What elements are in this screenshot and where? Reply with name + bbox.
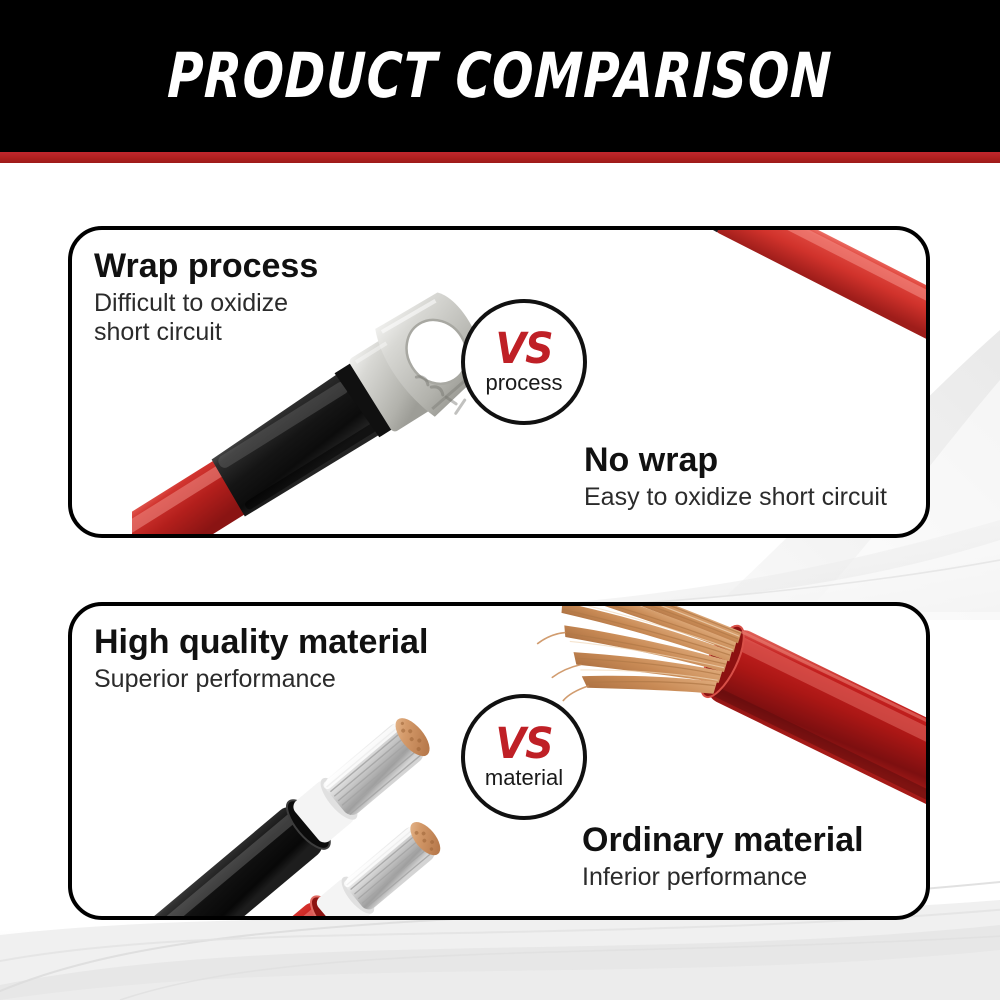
- header-bar: PRODUCT COMPARISON: [0, 0, 1000, 152]
- header-red-stripe: [0, 152, 1000, 163]
- right-label-group-no-wrap: No wrap Easy to oxidize short circuit: [584, 442, 887, 512]
- right-label-group-ordinary: Ordinary material Inferior performance: [582, 822, 864, 892]
- vs-badge-material: VS material: [461, 694, 587, 820]
- subtext-high-quality-material: Superior performance: [94, 665, 428, 694]
- subtext-ordinary-material: Inferior performance: [582, 863, 864, 892]
- heading-wrap-process: Wrap process: [94, 248, 318, 284]
- left-label-group-material: High quality material Superior performan…: [94, 624, 428, 694]
- vs-label: VS: [495, 330, 552, 370]
- heading-ordinary-material: Ordinary material: [582, 822, 864, 858]
- page-title: PRODUCT COMPARISON: [167, 45, 834, 107]
- vs-category-label: material: [485, 767, 563, 789]
- vs-label: VS: [495, 725, 552, 765]
- heading-no-wrap: No wrap: [584, 442, 887, 478]
- subtext-wrap-process: Difficult to oxidize short circuit: [94, 289, 318, 347]
- heading-high-quality-material: High quality material: [94, 624, 428, 660]
- subtext-no-wrap: Easy to oxidize short circuit: [584, 483, 887, 512]
- product-comparison-infographic: PRODUCT COMPARISON: [0, 0, 1000, 1000]
- vs-category-label: process: [485, 372, 562, 394]
- tinned-copper-cables-image: [132, 666, 512, 920]
- vs-badge-process: VS process: [461, 299, 587, 425]
- left-label-group-wrap: Wrap process Difficult to oxidize short …: [94, 248, 318, 347]
